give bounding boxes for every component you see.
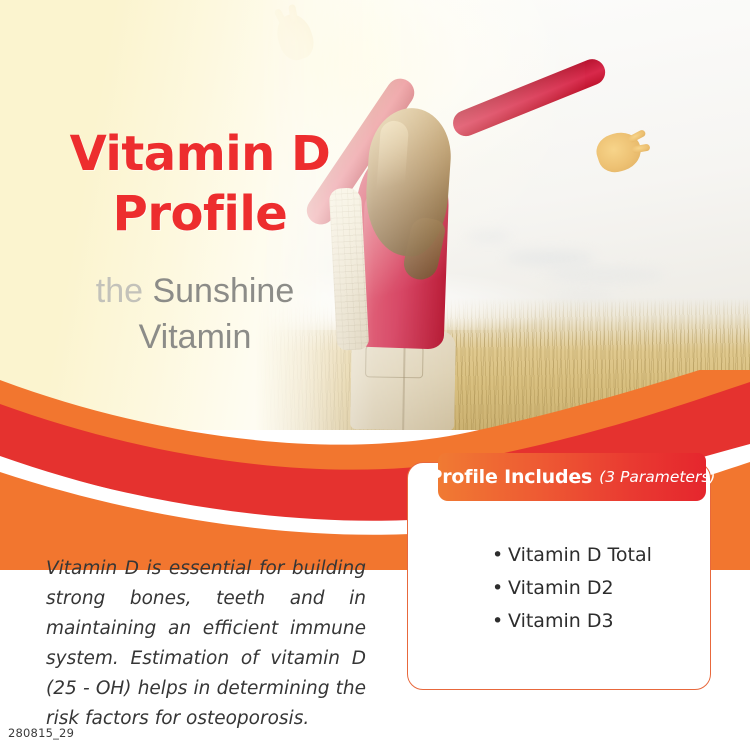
description-paragraph: Vitamin D is essential for building stro…	[46, 554, 366, 734]
title-line-2: Profile	[0, 184, 400, 244]
list-item: •Vitamin D Total	[492, 539, 652, 572]
title-line-1: Vitamin D	[0, 124, 400, 184]
subtitle-sunshine: Sunshine	[152, 272, 294, 310]
profile-includes-card: Profile Includes (3 Parameters) •Vitamin…	[407, 462, 711, 690]
parameter-label: Vitamin D2	[508, 577, 614, 599]
subtitle: the Sunshine Vitamin	[0, 268, 390, 360]
raised-right-arm	[449, 55, 609, 140]
parameter-label: Vitamin D3	[508, 610, 614, 632]
vitamin-d-profile-poster: Vitamin D Profile the Sunshine Vitamin V…	[0, 0, 750, 750]
subtitle-vitamin: Vitamin	[0, 314, 390, 360]
card-header-bar: Profile Includes (3 Parameters)	[438, 453, 706, 501]
page-title: Vitamin D Profile	[0, 124, 400, 244]
document-code: 280815_29	[8, 726, 74, 740]
left-hand	[272, 10, 319, 64]
subtitle-the: the	[96, 272, 153, 310]
list-item: •Vitamin D3	[492, 605, 652, 638]
card-header-title: Profile Includes	[429, 466, 593, 488]
list-item: •Vitamin D2	[492, 572, 652, 605]
bullet-icon: •	[492, 605, 508, 638]
parameter-list: •Vitamin D Total •Vitamin D2 •Vitamin D3	[492, 539, 652, 638]
card-header-count: (3 Parameters)	[599, 468, 715, 486]
subtitle-line-1: the Sunshine	[0, 268, 390, 314]
bullet-icon: •	[492, 572, 508, 605]
bullet-icon: •	[492, 539, 508, 572]
right-hand	[592, 127, 646, 177]
parameter-label: Vitamin D Total	[508, 544, 652, 566]
hero-section: Vitamin D Profile the Sunshine Vitamin	[0, 0, 750, 430]
